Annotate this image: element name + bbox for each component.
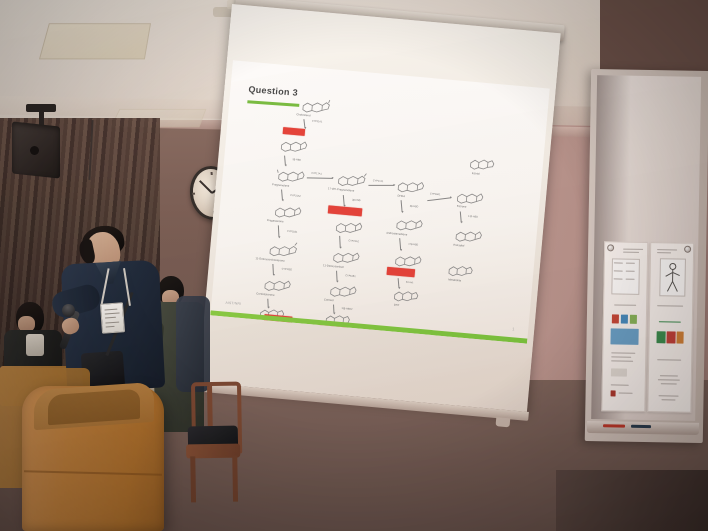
molecule-structure	[447, 262, 474, 278]
marker-red-icon[interactable]	[603, 424, 625, 427]
molecule-structure	[395, 215, 424, 232]
magnet-icon	[607, 244, 614, 251]
marker-black-icon[interactable]	[631, 425, 651, 428]
molecule-structure	[279, 137, 308, 154]
molecule-structure	[393, 251, 422, 268]
redaction-box	[283, 127, 306, 136]
chair-leg	[190, 456, 196, 502]
molecule-structure	[396, 177, 425, 194]
biosynthesis-pathway-diagram: Cholesterol CYP11A1 3β-HSD	[210, 60, 549, 343]
molecule-structure	[454, 227, 483, 244]
attendee-seated-shirt	[26, 334, 44, 356]
molecule-structure	[336, 170, 367, 189]
attendee-back	[176, 296, 210, 392]
magnet-icon	[684, 246, 691, 253]
clock-tick	[211, 172, 213, 175]
right-side-furniture	[556, 470, 708, 531]
redaction-box	[387, 267, 416, 277]
projection-screen-pull-tab[interactable]	[496, 417, 511, 427]
whiteboard[interactable]	[585, 69, 708, 443]
wooden-chair[interactable]	[185, 382, 243, 503]
molecule-structure	[268, 240, 299, 259]
whiteboard-poster-left	[601, 241, 648, 412]
molecule-structure	[328, 282, 357, 299]
molecule-structure	[273, 203, 302, 220]
molecule-structure	[468, 156, 495, 172]
clock-tick	[192, 193, 195, 195]
ceiling-light-panel	[39, 23, 151, 59]
molecule-structure	[392, 287, 419, 303]
molecule-structure	[276, 167, 305, 184]
whiteboard-marker-tray	[587, 421, 699, 435]
speaker-cone-icon	[30, 146, 39, 155]
person-pictogram-icon	[660, 259, 685, 295]
slide-page-number: 1	[512, 326, 515, 331]
whiteboard-poster-right	[647, 242, 694, 413]
molecule-structure	[455, 189, 484, 206]
molecule-structure	[301, 97, 332, 116]
redaction-box	[328, 205, 363, 216]
molecule-structure	[263, 276, 292, 293]
projection-screen: Question 3 Cholesterol	[196, 4, 560, 432]
poster-figure	[611, 258, 640, 294]
projected-slide: Question 3 Cholesterol	[210, 60, 549, 343]
molecule-structure	[334, 218, 363, 235]
conference-room-photo: Question 3 Cholesterol	[0, 0, 708, 531]
poster-figure	[659, 258, 686, 296]
molecule-structure	[331, 248, 360, 265]
presenter-name-badge	[100, 302, 125, 334]
chair-leg	[232, 456, 238, 502]
